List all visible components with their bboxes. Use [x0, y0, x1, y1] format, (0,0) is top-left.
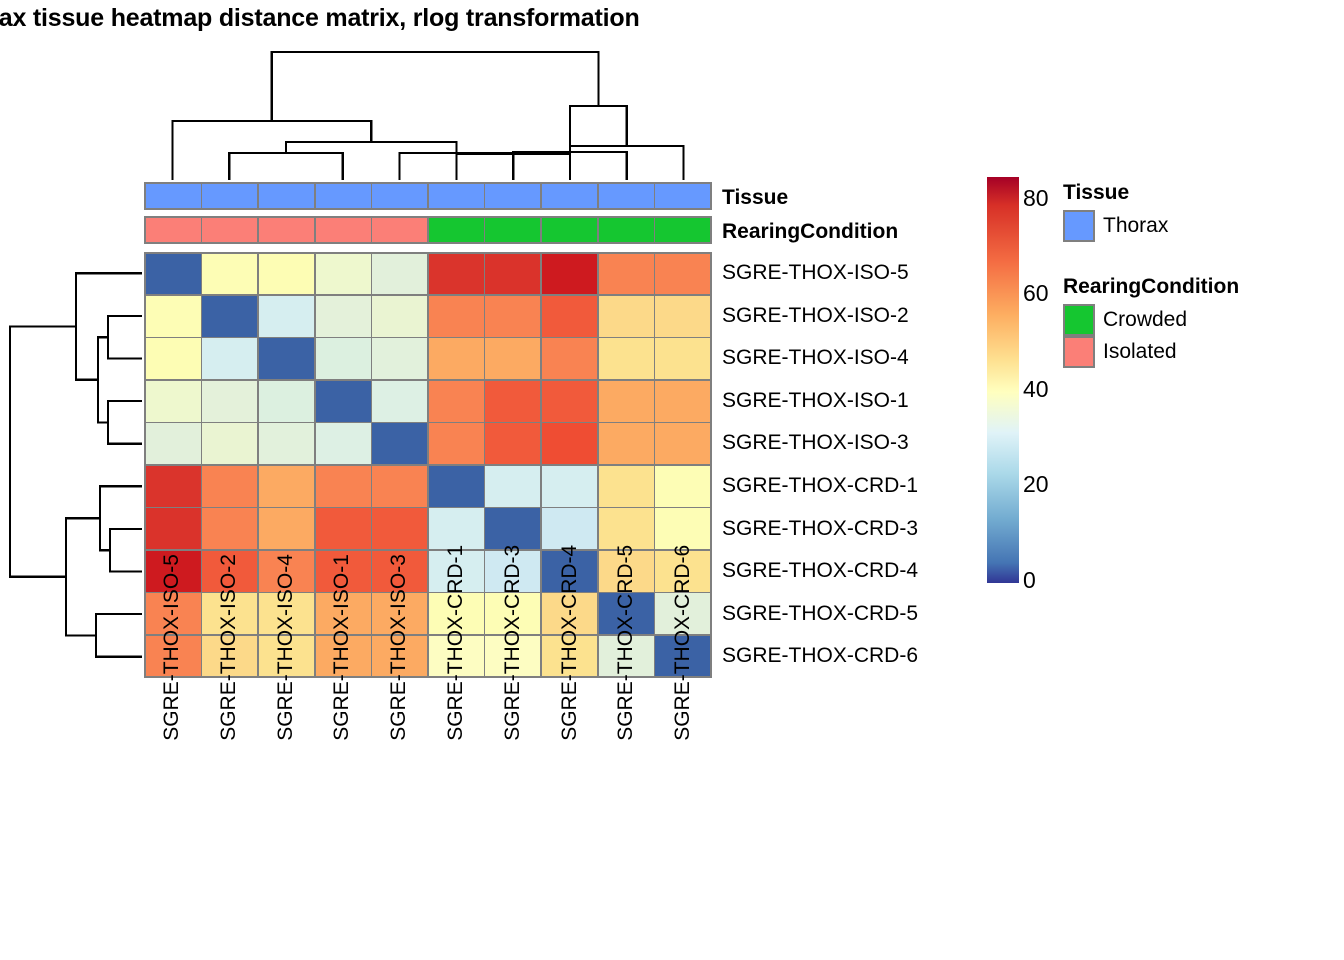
heatmap-cell[interactable]	[372, 508, 427, 549]
annotation-bar-tissue	[144, 182, 712, 210]
row-label: SGRE-THOX-ISO-4	[722, 337, 909, 380]
heatmap-cell[interactable]	[655, 466, 710, 507]
row-label: SGRE-THOX-CRD-6	[722, 635, 918, 678]
heatmap-cell[interactable]	[146, 296, 201, 337]
heatmap-cell[interactable]	[542, 423, 597, 464]
column-label: SGRE-THOX-ISO-5	[144, 684, 201, 741]
heatmap-cell[interactable]	[202, 508, 257, 549]
heatmap-cell[interactable]	[599, 296, 654, 337]
heatmap-cell[interactable]	[485, 508, 540, 549]
column-label: SGRE-THOX-CRD-5	[598, 684, 655, 741]
column-label: SGRE-THOX-ISO-2	[201, 684, 258, 741]
annotation-cell-rearing	[655, 218, 710, 243]
legend-label: Crowded	[1103, 308, 1187, 332]
heatmap-cell[interactable]	[599, 381, 654, 422]
heatmap-cell[interactable]	[372, 254, 427, 295]
colorbar-tick-label: 80	[1023, 185, 1049, 212]
annotation-cell-tissue	[372, 184, 427, 209]
annotation-cell-tissue	[259, 184, 314, 209]
column-label-group: SGRE-THOX-ISO-5SGRE-THOX-ISO-2SGRE-THOX-…	[144, 684, 712, 954]
row-label: SGRE-THOX-ISO-3	[722, 422, 909, 465]
column-label: SGRE-THOX-CRD-1	[428, 684, 485, 741]
heatmap-cell[interactable]	[485, 296, 540, 337]
annotation-cell-rearing	[259, 218, 314, 243]
heatmap-cell[interactable]	[202, 296, 257, 337]
heatmap-cell[interactable]	[146, 423, 201, 464]
annotation-label-rearing: RearingCondition	[722, 220, 898, 244]
annotation-cell-rearing	[146, 218, 201, 243]
heatmap-cell[interactable]	[316, 466, 371, 507]
heatmap-cell[interactable]	[202, 381, 257, 422]
heatmap-cell[interactable]	[316, 381, 371, 422]
heatmap-cell[interactable]	[316, 296, 371, 337]
heatmap-cell[interactable]	[599, 508, 654, 549]
heatmap-cell[interactable]	[542, 381, 597, 422]
row-label: SGRE-THOX-ISO-2	[722, 295, 909, 338]
heatmap-cell[interactable]	[316, 338, 371, 379]
heatmap-cell[interactable]	[259, 466, 314, 507]
annotation-bar-rearing	[144, 216, 712, 244]
legend-title: RearingCondition	[1063, 275, 1239, 299]
row-label: SGRE-THOX-CRD-3	[722, 508, 918, 551]
heatmap-figure: Thorax tissue heatmap distance matrix, r…	[0, 0, 1344, 960]
heatmap-cell[interactable]	[485, 466, 540, 507]
heatmap-cell[interactable]	[599, 423, 654, 464]
heatmap-cell[interactable]	[316, 423, 371, 464]
heatmap-cell[interactable]	[599, 466, 654, 507]
row-label: SGRE-THOX-CRD-5	[722, 593, 918, 636]
heatmap-cell[interactable]	[202, 254, 257, 295]
annotation-label-tissue: Tissue	[722, 186, 788, 210]
heatmap-cell[interactable]	[542, 466, 597, 507]
annotation-cell-rearing	[485, 218, 540, 243]
heatmap-cell[interactable]	[372, 423, 427, 464]
column-label: SGRE-THOX-CRD-6	[655, 684, 712, 741]
heatmap-cell[interactable]	[202, 423, 257, 464]
heatmap-cell[interactable]	[372, 296, 427, 337]
heatmap-cell[interactable]	[259, 296, 314, 337]
heatmap-cell[interactable]	[542, 508, 597, 549]
heatmap-cell[interactable]	[655, 423, 710, 464]
heatmap-cell[interactable]	[259, 508, 314, 549]
row-label: SGRE-THOX-CRD-4	[722, 550, 918, 593]
heatmap-cell[interactable]	[599, 338, 654, 379]
heatmap-cell[interactable]	[259, 423, 314, 464]
heatmap-cell[interactable]	[655, 338, 710, 379]
heatmap-cell[interactable]	[316, 508, 371, 549]
annotation-cell-tissue	[485, 184, 540, 209]
heatmap-cell[interactable]	[429, 296, 484, 337]
heatmap-cell[interactable]	[599, 254, 654, 295]
column-label: SGRE-THOX-ISO-1	[314, 684, 371, 741]
heatmap-cell[interactable]	[655, 296, 710, 337]
heatmap-cell[interactable]	[542, 338, 597, 379]
heatmap-cell[interactable]	[259, 254, 314, 295]
heatmap-cell[interactable]	[146, 381, 201, 422]
column-label: SGRE-THOX-ISO-3	[371, 684, 428, 741]
annotation-cell-tissue	[202, 184, 257, 209]
column-label: SGRE-THOX-ISO-4	[258, 684, 315, 741]
heatmap-cell[interactable]	[372, 466, 427, 507]
row-label-group: SGRE-THOX-ISO-5SGRE-THOX-ISO-2SGRE-THOX-…	[722, 252, 1022, 678]
row-label: SGRE-THOX-ISO-5	[722, 252, 909, 295]
annotation-cell-rearing	[429, 218, 484, 243]
heatmap-cell[interactable]	[655, 254, 710, 295]
heatmap-cell[interactable]	[146, 466, 201, 507]
heatmap-cell[interactable]	[429, 254, 484, 295]
heatmap-cell[interactable]	[485, 338, 540, 379]
annotation-cell-tissue	[655, 184, 710, 209]
heatmap-cell[interactable]	[655, 508, 710, 549]
heatmap-cell[interactable]	[146, 254, 201, 295]
column-dendrogram	[144, 48, 712, 180]
heatmap-cell[interactable]	[372, 338, 427, 379]
legend-swatch	[1063, 210, 1095, 242]
heatmap-cell[interactable]	[316, 254, 371, 295]
heatmap-cell[interactable]	[485, 381, 540, 422]
annotation-cell-tissue	[429, 184, 484, 209]
heatmap-cell[interactable]	[372, 381, 427, 422]
annotation-cell-tissue	[542, 184, 597, 209]
annotation-cell-rearing	[542, 218, 597, 243]
page-title: Thorax tissue heatmap distance matrix, r…	[0, 4, 1044, 33]
colorbar-tick-label: 20	[1023, 471, 1049, 498]
row-label: SGRE-THOX-ISO-1	[722, 380, 909, 423]
row-label: SGRE-THOX-CRD-1	[722, 465, 918, 508]
heatmap-cell[interactable]	[429, 423, 484, 464]
column-label: SGRE-THOX-CRD-4	[542, 684, 599, 741]
colorbar-tick-label: 60	[1023, 280, 1049, 307]
legend-swatch	[1063, 336, 1095, 368]
heatmap-cell[interactable]	[655, 381, 710, 422]
legend-title: Tissue	[1063, 181, 1129, 205]
heatmap-cell[interactable]	[485, 254, 540, 295]
annotation-cell-rearing	[202, 218, 257, 243]
heatmap-cell[interactable]	[542, 296, 597, 337]
legend-label: Thorax	[1103, 214, 1168, 238]
annotation-cell-rearing	[372, 218, 427, 243]
heatmap-cell[interactable]	[429, 381, 484, 422]
heatmap-cell[interactable]	[542, 254, 597, 295]
colorbar-gradient	[987, 177, 1019, 583]
heatmap-cell[interactable]	[202, 338, 257, 379]
annotation-cell-tissue	[316, 184, 371, 209]
colorbar-tick-label: 0	[1023, 567, 1036, 594]
colorbar-tick-label: 40	[1023, 376, 1049, 403]
heatmap-cell[interactable]	[202, 466, 257, 507]
heatmap-cell[interactable]	[429, 466, 484, 507]
annotation-cell-rearing	[599, 218, 654, 243]
annotation-cell-tissue	[599, 184, 654, 209]
heatmap-cell[interactable]	[146, 338, 201, 379]
legend-label: Isolated	[1103, 340, 1177, 364]
heatmap-cell[interactable]	[146, 508, 201, 549]
heatmap-cell[interactable]	[259, 338, 314, 379]
annotation-cell-tissue	[146, 184, 201, 209]
heatmap-cell[interactable]	[259, 381, 314, 422]
row-dendrogram	[4, 252, 142, 678]
heatmap-cell[interactable]	[429, 508, 484, 549]
column-label: SGRE-THOX-CRD-3	[485, 684, 542, 741]
legend-swatch	[1063, 304, 1095, 336]
heatmap-cell[interactable]	[485, 423, 540, 464]
heatmap-cell[interactable]	[429, 338, 484, 379]
annotation-cell-rearing	[316, 218, 371, 243]
colorbar	[987, 177, 1019, 583]
